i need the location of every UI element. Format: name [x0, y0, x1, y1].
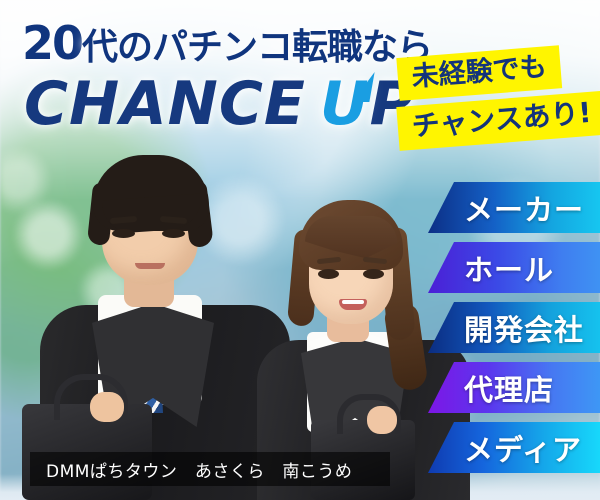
- category-bar-maker[interactable]: メーカー: [428, 182, 600, 233]
- headline: 20代のパチンコ転職なら: [22, 20, 432, 66]
- headline-text: 代のパチンコ転職なら: [82, 27, 432, 68]
- category-bar-media[interactable]: メディア: [428, 422, 600, 473]
- promo-badge-line-2: チャンスあり!: [396, 90, 600, 150]
- category-bar-hall[interactable]: ホール: [428, 242, 600, 293]
- headline-number: 20: [22, 16, 82, 70]
- promo-badge: 未経験でも チャンスあり!: [398, 58, 600, 151]
- caption-text: DMMぱちタウン あさくら 南こうめ: [46, 457, 352, 482]
- logo-letter-u: U: [320, 74, 370, 134]
- ad-banner[interactable]: 20代のパチンコ転職なら CHANCEUP 未経験でも チャンスあり! メーカー…: [0, 0, 600, 500]
- caption-band: DMMぱちタウン あさくら 南こうめ: [30, 452, 390, 486]
- logo-word-chance: CHANCE: [24, 69, 306, 139]
- category-bar-developer[interactable]: 開発会社: [428, 302, 600, 353]
- logo-chance-up: CHANCEUP: [24, 74, 415, 134]
- category-bar-agency[interactable]: 代理店: [428, 362, 600, 413]
- category-bar-list: メーカー ホール 開発会社 代理店 メディア: [0, 182, 600, 482]
